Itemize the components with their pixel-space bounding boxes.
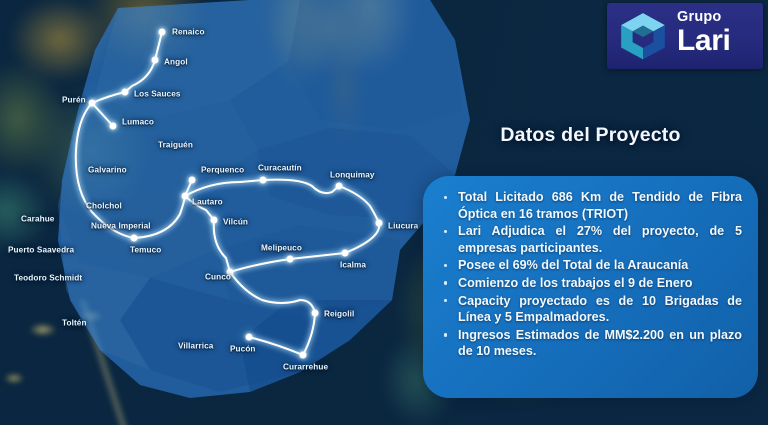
map-node[interactable]	[211, 217, 218, 224]
slide-canvas: RenaicoAngolLos SaucesPurénLumacoTraigué…	[0, 0, 768, 425]
project-bullet: Capacity proyectado es de 10 Brigadas de…	[441, 293, 742, 326]
city-label: Curarrehue	[283, 363, 328, 372]
logo-lari-text: Lari	[677, 26, 763, 56]
map-node[interactable]	[246, 334, 253, 341]
city-label: Liucura	[388, 222, 418, 231]
map-node[interactable]	[376, 220, 383, 227]
project-bullet: Total Licitado 686 Km de Tendido de Fibr…	[441, 189, 742, 222]
city-label: Carahue	[21, 215, 54, 224]
project-bullet-list: Total Licitado 686 Km de Tendido de Fibr…	[423, 176, 758, 360]
map-node[interactable]	[260, 177, 267, 184]
region-shapes	[58, 0, 470, 398]
city-label: Lonquimay	[330, 171, 375, 180]
map-node[interactable]	[312, 310, 319, 317]
city-label: Melipeuco	[261, 244, 302, 253]
city-label: Galvarino	[88, 166, 127, 175]
cube-icon	[617, 10, 669, 62]
city-label: Los Sauces	[134, 90, 181, 99]
city-label: Puerto Saavedra	[8, 246, 74, 255]
city-label: Pucón	[230, 345, 256, 354]
map-node[interactable]	[287, 256, 294, 263]
map-node[interactable]	[300, 352, 307, 359]
city-label: Perquenco	[201, 166, 244, 175]
city-label: Nueva Imperial	[91, 222, 151, 231]
map-node[interactable]	[89, 100, 96, 107]
map-node[interactable]	[342, 250, 349, 257]
company-logo[interactable]: Grupo Lari	[607, 3, 763, 69]
city-label: Lautaro	[192, 198, 223, 207]
city-label: Villarrica	[178, 342, 213, 351]
map-node[interactable]	[159, 29, 166, 36]
city-label: Teodoro Schmidt	[14, 274, 82, 283]
city-label: Renaico	[172, 28, 205, 37]
logo-wordmark: Grupo Lari	[677, 9, 763, 56]
city-label: Traiguén	[158, 141, 193, 150]
city-label: Cholchol	[86, 202, 122, 211]
map-node[interactable]	[182, 193, 189, 200]
map-node[interactable]	[152, 57, 159, 64]
project-bullet: Posee el 69% del Total de la Araucanía	[441, 257, 742, 274]
project-bullet: Ingresos Estimados de MM$2.200 en un pla…	[441, 327, 742, 360]
city-label: Curacautín	[258, 164, 302, 173]
city-label: Angol	[164, 58, 188, 67]
project-bullet: Comienzo de los trabajos el 9 de Enero	[441, 275, 742, 292]
map-node[interactable]	[131, 235, 138, 242]
city-label: Cunco	[205, 273, 231, 282]
project-bullet: Lari Adjudica el 27% del proyecto, de 5 …	[441, 223, 742, 256]
city-label: Icalma	[340, 261, 366, 270]
city-label: Lumaco	[122, 118, 154, 127]
city-label: Purén	[62, 96, 86, 105]
map-node[interactable]	[110, 123, 117, 130]
city-label: Toltén	[62, 319, 87, 328]
city-label: Reigolil	[324, 310, 354, 319]
map-node[interactable]	[122, 89, 129, 96]
map-node[interactable]	[189, 177, 196, 184]
project-data-panel: Total Licitado 686 Km de Tendido de Fibr…	[423, 176, 758, 398]
city-label: Vilcún	[223, 218, 248, 227]
logo-grupo-text: Grupo	[677, 9, 763, 25]
city-label: Temuco	[130, 246, 161, 255]
page-title: Datos del Proyecto	[423, 124, 758, 147]
map-node[interactable]	[336, 183, 343, 190]
